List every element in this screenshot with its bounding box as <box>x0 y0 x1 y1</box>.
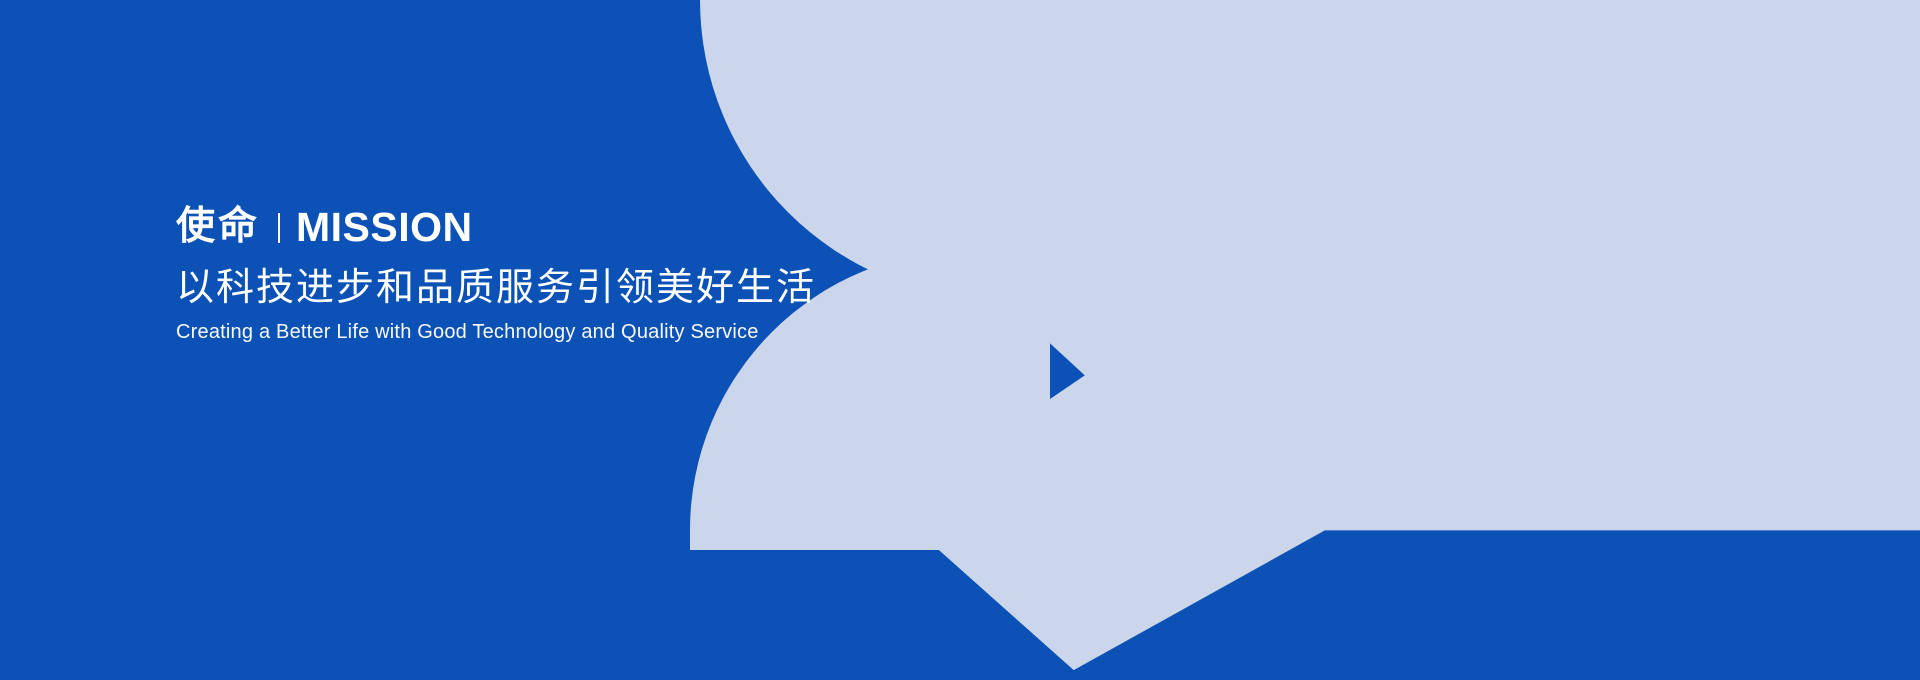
tagline-english: Creating a Better Life with Good Technol… <box>176 321 816 344</box>
headline-row: 使命 MISSION <box>176 206 816 249</box>
headline-separator <box>278 213 280 243</box>
mission-banner: GH <box>0 0 1920 680</box>
mission-text-block: 使命 MISSION 以科技进步和品质服务引领美好生活 Creating a B… <box>176 206 816 344</box>
headline-chinese: 使命 <box>176 207 260 248</box>
subhead-chinese: 以科技进步和品质服务引领美好生活 <box>176 267 816 311</box>
headline-english: MISSION <box>296 206 473 249</box>
